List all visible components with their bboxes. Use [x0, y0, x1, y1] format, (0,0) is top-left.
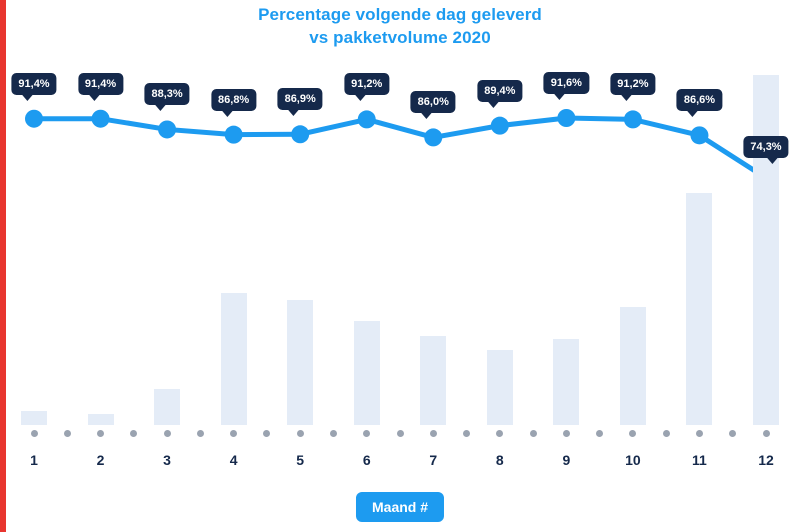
value-callout-10: 91,2% [610, 73, 655, 95]
x-tick-label-5: 5 [296, 452, 304, 468]
axis-dot-5 [297, 430, 304, 437]
line-point-7 [424, 128, 442, 146]
axis-dot-6 [363, 430, 370, 437]
bar-month-9 [553, 339, 579, 425]
x-tick-label-10: 10 [625, 452, 641, 468]
chart-container: Percentage volgende dag geleverd vs pakk… [0, 0, 800, 532]
x-tick-label-9: 9 [562, 452, 570, 468]
axis-dot-minor [530, 430, 537, 437]
axis-dot-minor [463, 430, 470, 437]
x-tick-label-11: 11 [692, 452, 707, 468]
axis-dot-1 [31, 430, 38, 437]
line-point-5 [291, 125, 309, 143]
value-callout-9: 91,6% [544, 72, 589, 94]
axis-dot-4 [230, 430, 237, 437]
line-path [34, 118, 766, 178]
bar-month-3 [154, 389, 180, 425]
bar-month-11 [686, 193, 712, 425]
axis-dot-7 [430, 430, 437, 437]
axis-dot-minor [130, 430, 137, 437]
line-point-6 [358, 110, 376, 128]
x-tick-label-2: 2 [97, 452, 105, 468]
x-tick-label-6: 6 [363, 452, 371, 468]
value-callout-6: 91,2% [344, 73, 389, 95]
x-tick-label-7: 7 [429, 452, 437, 468]
line-series-svg [8, 60, 792, 425]
bar-month-5 [287, 300, 313, 425]
line-point-1 [25, 110, 43, 128]
plot-area: 91,4%91,4%88,3%86,8%86,9%91,2%86,0%89,4%… [8, 60, 792, 425]
axis-dot-9 [563, 430, 570, 437]
axis-dot-minor [397, 430, 404, 437]
line-point-9 [557, 109, 575, 127]
bar-month-8 [487, 350, 513, 425]
line-point-2 [92, 110, 110, 128]
line-point-11 [690, 126, 708, 144]
bar-month-12 [753, 75, 779, 425]
axis-dot-12 [763, 430, 770, 437]
x-axis-title: Maand # [356, 492, 444, 522]
bar-month-4 [221, 293, 247, 425]
axis-dot-minor [663, 430, 670, 437]
axis-dot-3 [164, 430, 171, 437]
axis-dot-minor [263, 430, 270, 437]
chart-title-line-1: Percentage volgende dag geleverd [0, 4, 800, 27]
axis-dot-8 [496, 430, 503, 437]
value-callout-8: 89,4% [477, 80, 522, 102]
axis-dot-minor [64, 430, 71, 437]
axis-dot-10 [629, 430, 636, 437]
value-callout-3: 88,3% [144, 83, 189, 105]
axis-dot-11 [696, 430, 703, 437]
value-callout-7: 86,0% [411, 91, 456, 113]
line-point-10 [624, 110, 642, 128]
chart-title: Percentage volgende dag geleverd vs pakk… [0, 4, 800, 50]
axis-dot-minor [330, 430, 337, 437]
line-point-8 [491, 117, 509, 135]
axis-dot-minor [596, 430, 603, 437]
x-tick-label-4: 4 [230, 452, 238, 468]
value-callout-11: 86,6% [677, 89, 722, 111]
x-tick-label-12: 12 [758, 452, 774, 468]
chart-title-line-2: vs pakketvolume 2020 [0, 27, 800, 50]
axis-dot-minor [197, 430, 204, 437]
x-tick-label-3: 3 [163, 452, 171, 468]
x-axis-labels: 123456789101112 [8, 452, 792, 476]
line-point-3 [158, 120, 176, 138]
axis-dot-minor [729, 430, 736, 437]
bar-month-6 [354, 321, 380, 425]
x-tick-label-8: 8 [496, 452, 504, 468]
value-callout-1: 91,4% [11, 73, 56, 95]
axis-dot-2 [97, 430, 104, 437]
bar-month-7 [420, 336, 446, 425]
line-point-4 [225, 126, 243, 144]
value-callout-12: 74,3% [743, 136, 788, 158]
value-callout-2: 91,4% [78, 73, 123, 95]
value-callout-4: 86,8% [211, 89, 256, 111]
bar-month-1 [21, 411, 47, 425]
x-tick-label-1: 1 [30, 452, 38, 468]
value-callout-5: 86,9% [278, 88, 323, 110]
bar-month-2 [88, 414, 114, 425]
bar-month-10 [620, 307, 646, 425]
